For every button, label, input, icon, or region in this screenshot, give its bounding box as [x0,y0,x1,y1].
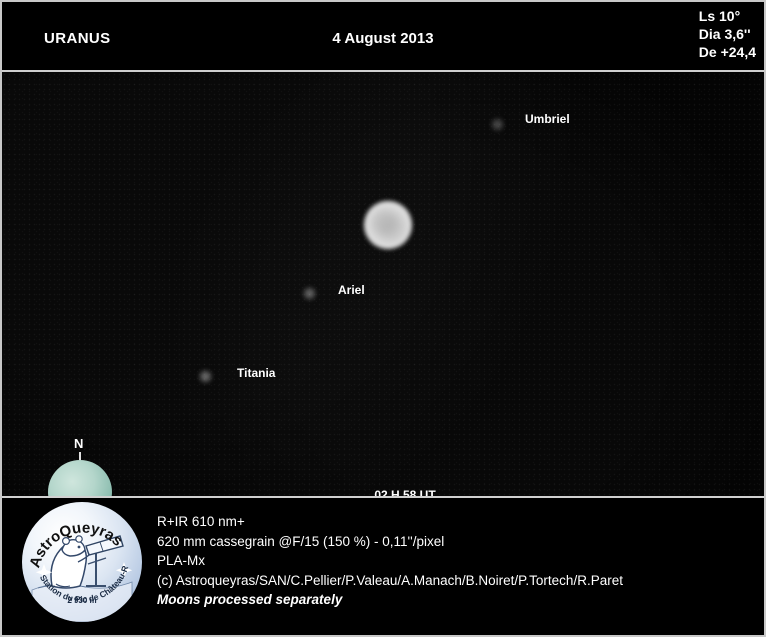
caption-line-filter: R+IR 610 nm+ [157,512,623,532]
caption-divider [2,496,764,498]
polar-axis-icon [79,452,81,496]
moon-label-ariel: Ariel [338,283,365,297]
stat-ls: Ls 10° [699,7,756,25]
moon-dot-titania [199,370,212,383]
svg-text:2 930 m: 2 930 m [67,596,96,605]
moon-label-titania: Titania [237,366,275,380]
orientation-globe: N [40,452,122,496]
stat-dia: Dia 3,6'' [699,25,756,43]
caption-line-credits: (c) Astroqueyras/SAN/C.Pellier/P.Valeau/… [157,571,623,591]
capture-timestamp: 02 H 58 UT CM = 248 [335,487,475,496]
sensor-noise-texture [2,72,764,496]
astroqueyras-logo: AstroQueyras Station du Pic de Château-R… [22,502,142,622]
marmot-telescope-icon: AstroQueyras Station du Pic de Château-R… [22,502,142,622]
north-label: N [74,436,83,451]
ephemeris-stats: Ls 10° Dia 3,6'' De +24,4 [699,7,756,61]
astrophotography-figure: URANUS 4 August 2013 Ls 10° Dia 3,6'' De… [0,0,766,637]
caption-text-block: R+IR 610 nm+ 620 mm cassegrain @F/15 (15… [157,512,623,610]
moon-dot-umbriel [491,118,504,131]
moon-label-umbriel: Umbriel [525,112,570,126]
observation-date: 4 August 2013 [2,30,764,47]
caption-line-note: Moons processed separately [157,590,623,610]
uranus-surface-detail [364,201,412,249]
caption-line-instrument: 620 mm cassegrain @F/15 (150 %) - 0,11''… [157,532,623,552]
moon-dot-ariel [303,287,316,300]
sky-image-panel: Umbriel Ariel Titania 02 H 58 UT CM = 24… [2,72,764,496]
figure-header: URANUS 4 August 2013 Ls 10° Dia 3,6'' De… [2,2,764,70]
stat-de: De +24,4 [699,43,756,61]
timestamp-time: 02 H 58 UT [335,487,475,496]
caption-line-camera: PLA-Mx [157,551,623,571]
